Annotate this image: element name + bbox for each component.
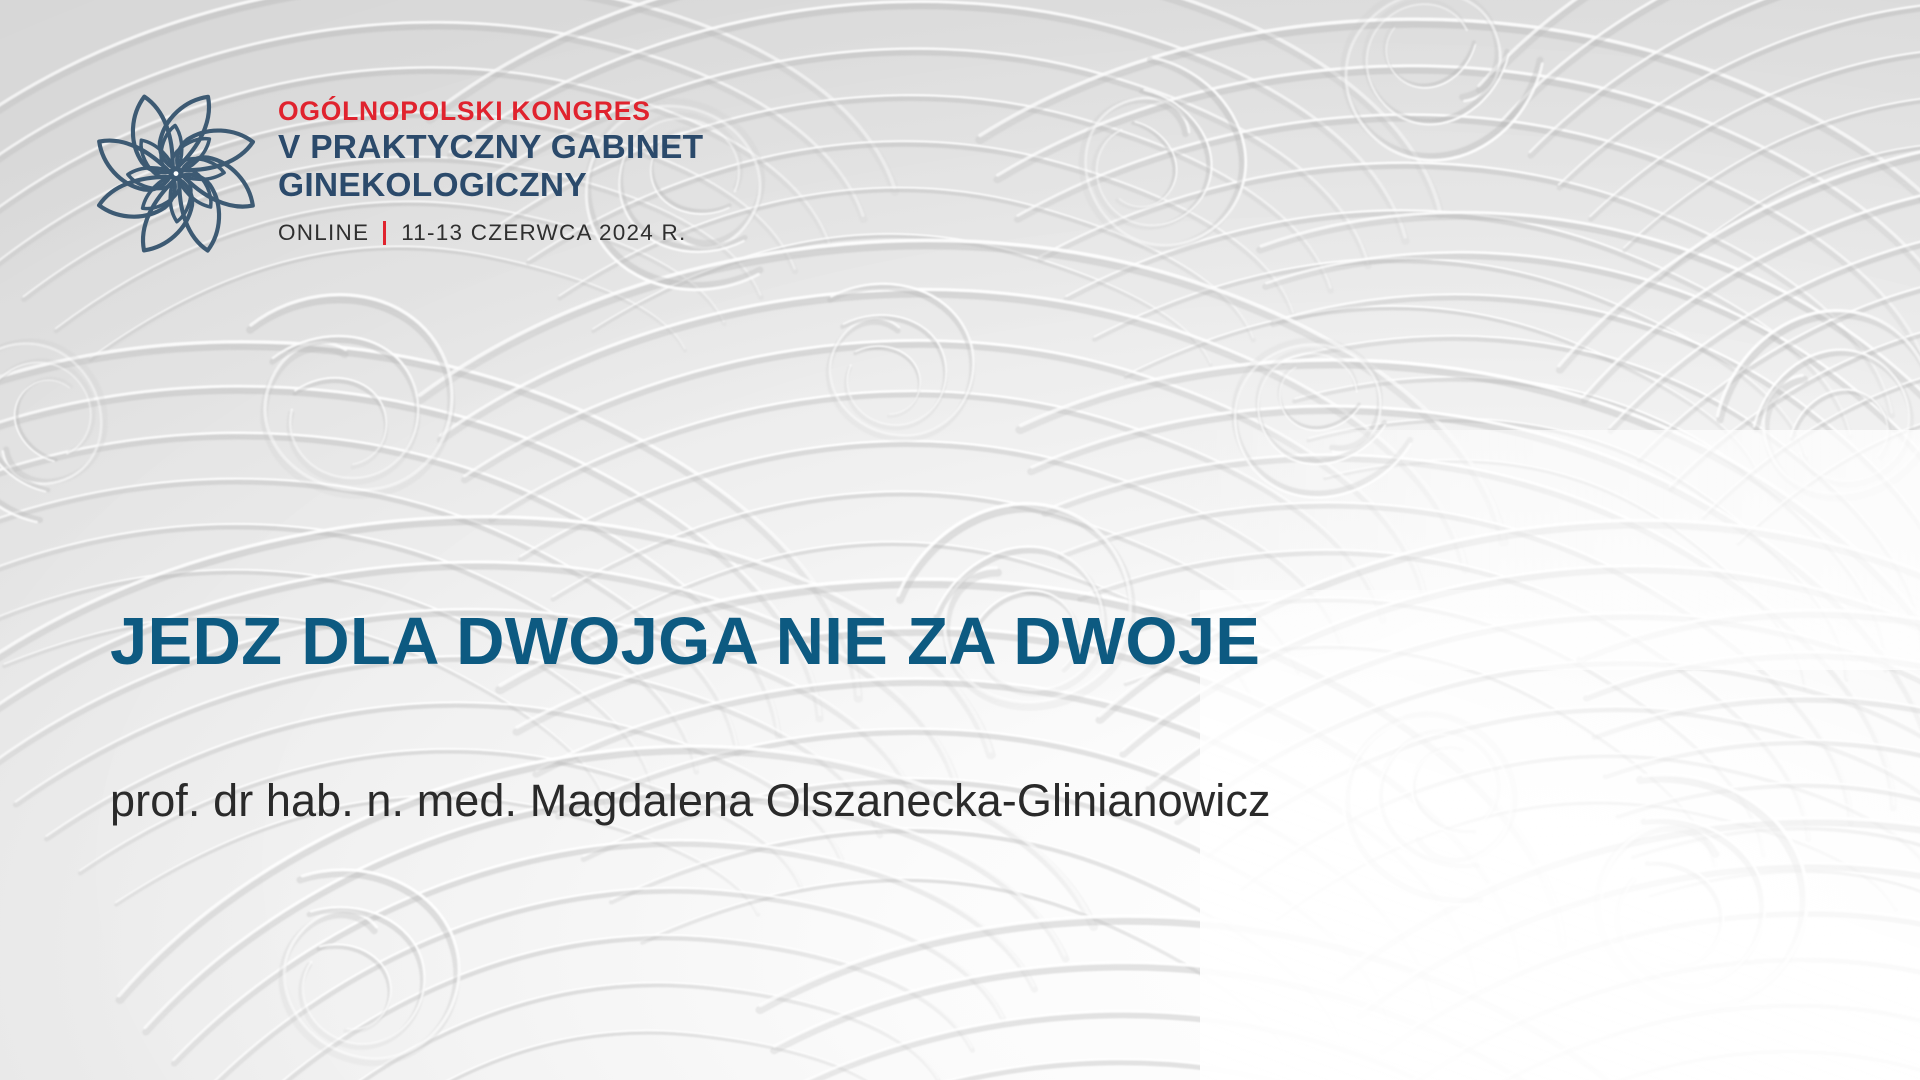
congress-logo-block: OGÓLNOPOLSKI KONGRES V PRAKTYCZNY GABINE…	[96, 84, 703, 260]
logo-line-title-1: V PRAKTYCZNY GABINET	[278, 129, 703, 167]
logo-meta-mode: ONLINE	[278, 220, 369, 246]
logo-meta-dates: 11-13 CZERWCA 2024 R.	[401, 220, 686, 246]
slide-main-title: JEDZ DLA DWOJGA NIE ZA DWOJE	[110, 608, 1260, 675]
logo-line-title-2: GINEKOLOGICZNY	[278, 167, 703, 205]
slide-speaker-name: prof. dr hab. n. med. Magdalena Olszanec…	[110, 778, 1271, 823]
presentation-slide: OGÓLNOPOLSKI KONGRES V PRAKTYCZNY GABINE…	[0, 0, 1920, 1080]
logo-line-kongres: OGÓLNOPOLSKI KONGRES	[278, 98, 703, 125]
logo-meta-line: ONLINE 11-13 CZERWCA 2024 R.	[278, 220, 703, 246]
congress-logo-text: OGÓLNOPOLSKI KONGRES V PRAKTYCZNY GABINE…	[278, 84, 703, 246]
eight-petal-flower-mandala-icon	[96, 84, 256, 260]
logo-meta-separator	[383, 221, 386, 245]
